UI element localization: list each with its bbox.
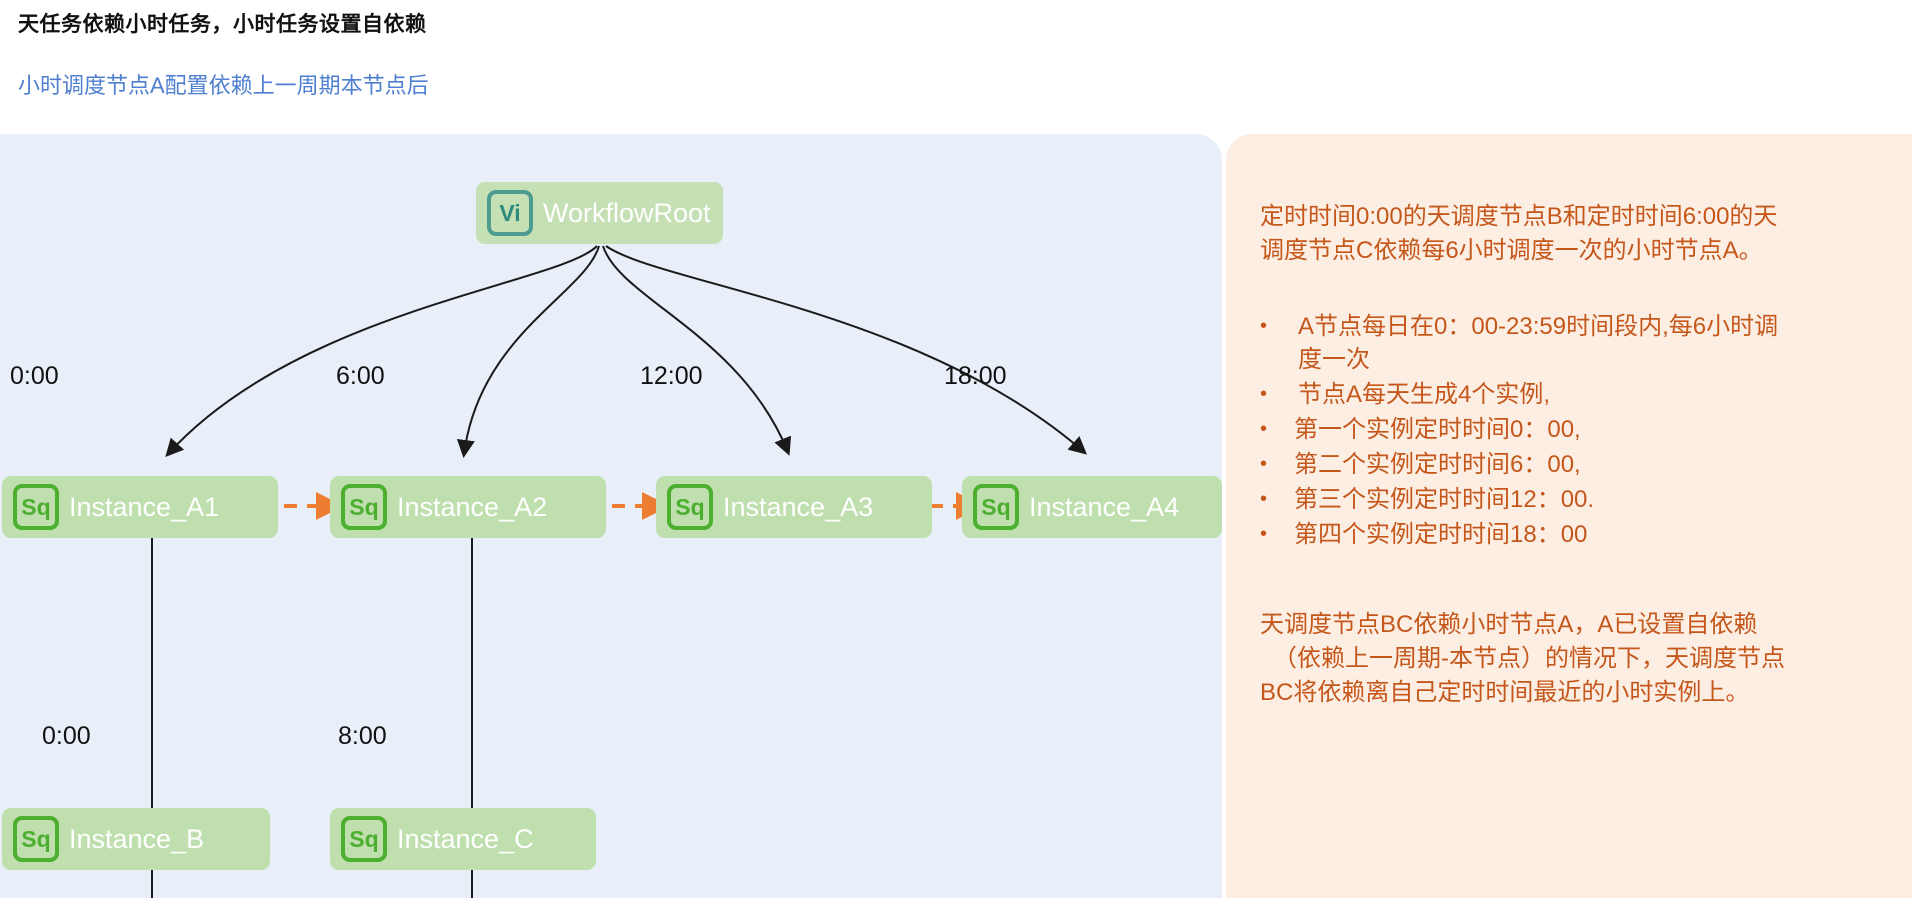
bullet-list-level-1: • A节点每日在0：00-23:59时间段内,每6小时调 度一次 • 节点A每天… xyxy=(1260,310,1900,551)
time-label-a2: 6:00 xyxy=(336,362,385,391)
time-label-instance-b: 0:00 xyxy=(42,722,91,751)
node-label: Instance_A3 xyxy=(723,492,885,523)
list-item: • A节点每日在0：00-23:59时间段内,每6小时调 度一次 xyxy=(1260,310,1900,376)
time-label-a3: 12:00 xyxy=(640,362,703,391)
node-instance-a2[interactable]: Sq Instance_A2 xyxy=(330,476,606,538)
annotation-paragraph-1: 定时时间0:00的天调度节点B和定时时间6:00的天 调度节点C依赖每6小时调度… xyxy=(1260,200,1880,268)
list-item-text: 第四个实例定时时间18：00 xyxy=(1294,518,1900,551)
list-item: • 节点A每天生成4个实例, xyxy=(1260,378,1900,411)
edge-root-to-a1 xyxy=(168,246,597,454)
bullet-marker-icon: • xyxy=(1260,413,1294,446)
sq-badge-icon: Sq xyxy=(13,816,59,862)
bullet-marker-icon: • xyxy=(1260,483,1294,516)
node-instance-a3[interactable]: Sq Instance_A3 xyxy=(656,476,932,538)
bullet-marker-icon: • xyxy=(1260,518,1294,551)
edge-root-to-a4 xyxy=(606,246,1084,452)
diagram-panel: Vi WorkflowRoot 0:00 6:00 12:00 18:00 Sq… xyxy=(0,134,1222,898)
vi-badge-icon: Vi xyxy=(487,190,533,236)
sq-badge-icon: Sq xyxy=(667,484,713,530)
node-label: Instance_B xyxy=(69,824,216,855)
list-item-text: 第二个实例定时时间6：00, xyxy=(1294,448,1900,481)
list-item: • 第三个实例定时时间12：00. xyxy=(1260,483,1900,516)
annotation-line: BC将依赖离自己定时时间最近的小时实例上。 xyxy=(1260,676,1880,710)
time-label-a1: 0:00 xyxy=(10,362,59,391)
edge-root-to-a3 xyxy=(603,246,788,452)
sq-badge-icon: Sq xyxy=(973,484,1019,530)
list-item-text: A节点每日在0：00-23:59时间段内,每6小时调 度一次 xyxy=(1298,310,1900,376)
bullet-marker-icon: • xyxy=(1260,448,1294,481)
node-label: WorkflowRoot xyxy=(543,198,723,229)
node-instance-c[interactable]: Sq Instance_C xyxy=(330,808,596,870)
diagram-page: 天任务依赖小时任务，小时任务设置自依赖 小时调度节点A配置依赖上一周期本节点后 xyxy=(0,0,1912,898)
node-workflow-root[interactable]: Vi WorkflowRoot xyxy=(476,182,723,244)
time-label-a4: 18:00 xyxy=(944,362,1007,391)
bullet-marker-icon: • xyxy=(1260,310,1298,343)
annotation-line: 天调度节点BC依赖小时节点A，A已设置自依赖 xyxy=(1260,608,1880,642)
node-instance-a1[interactable]: Sq Instance_A1 xyxy=(2,476,278,538)
page-title: 天任务依赖小时任务，小时任务设置自依赖 xyxy=(18,8,427,38)
bullet-marker-icon: • xyxy=(1260,378,1298,411)
annotation-line: 节点A每天生成4个实例, xyxy=(1298,378,1900,411)
annotation-paragraph-2: 天调度节点BC依赖小时节点A，A已设置自依赖 （依赖上一周期-本节点）的情况下，… xyxy=(1260,608,1880,710)
list-item: • 第二个实例定时时间6：00, xyxy=(1260,448,1900,481)
node-label: Instance_A2 xyxy=(397,492,559,523)
annotation-line: 度一次 xyxy=(1298,343,1900,376)
node-label: Instance_A4 xyxy=(1029,492,1191,523)
sq-badge-icon: Sq xyxy=(341,484,387,530)
annotation-line: （依赖上一周期-本节点）的情况下，天调度节点 xyxy=(1260,642,1880,676)
list-item-text: 第一个实例定时时间0：00, xyxy=(1294,413,1900,446)
node-label: Instance_A1 xyxy=(69,492,231,523)
annotation-line: 定时时间0:00的天调度节点B和定时时间6:00的天 xyxy=(1260,200,1880,234)
annotation-line: 调度节点C依赖每6小时调度一次的小时节点A。 xyxy=(1260,234,1880,268)
page-subtitle: 小时调度节点A配置依赖上一周期本节点后 xyxy=(18,68,429,100)
list-item-text: 第三个实例定时时间12：00. xyxy=(1294,483,1900,516)
list-item: • 第四个实例定时时间18：00 xyxy=(1260,518,1900,551)
list-item: • 第一个实例定时时间0：00, xyxy=(1260,413,1900,446)
annotation-bullet-list: • A节点每日在0：00-23:59时间段内,每6小时调 度一次 • 节点A每天… xyxy=(1260,310,1900,553)
node-instance-b[interactable]: Sq Instance_B xyxy=(2,808,270,870)
sq-badge-icon: Sq xyxy=(13,484,59,530)
edge-root-to-a2 xyxy=(464,246,599,454)
bullet-list-level-2: • 第一个实例定时时间0：00, • 第二个实例定时时间6：00, • 第三个实… xyxy=(1260,413,1900,551)
time-label-instance-c: 8:00 xyxy=(338,722,387,751)
list-item-text: 节点A每天生成4个实例, xyxy=(1298,378,1900,411)
node-label: Instance_C xyxy=(397,824,546,855)
annotation-line: A节点每日在0：00-23:59时间段内,每6小时调 xyxy=(1298,310,1900,343)
sq-badge-icon: Sq xyxy=(341,816,387,862)
node-instance-a4[interactable]: Sq Instance_A4 xyxy=(962,476,1222,538)
